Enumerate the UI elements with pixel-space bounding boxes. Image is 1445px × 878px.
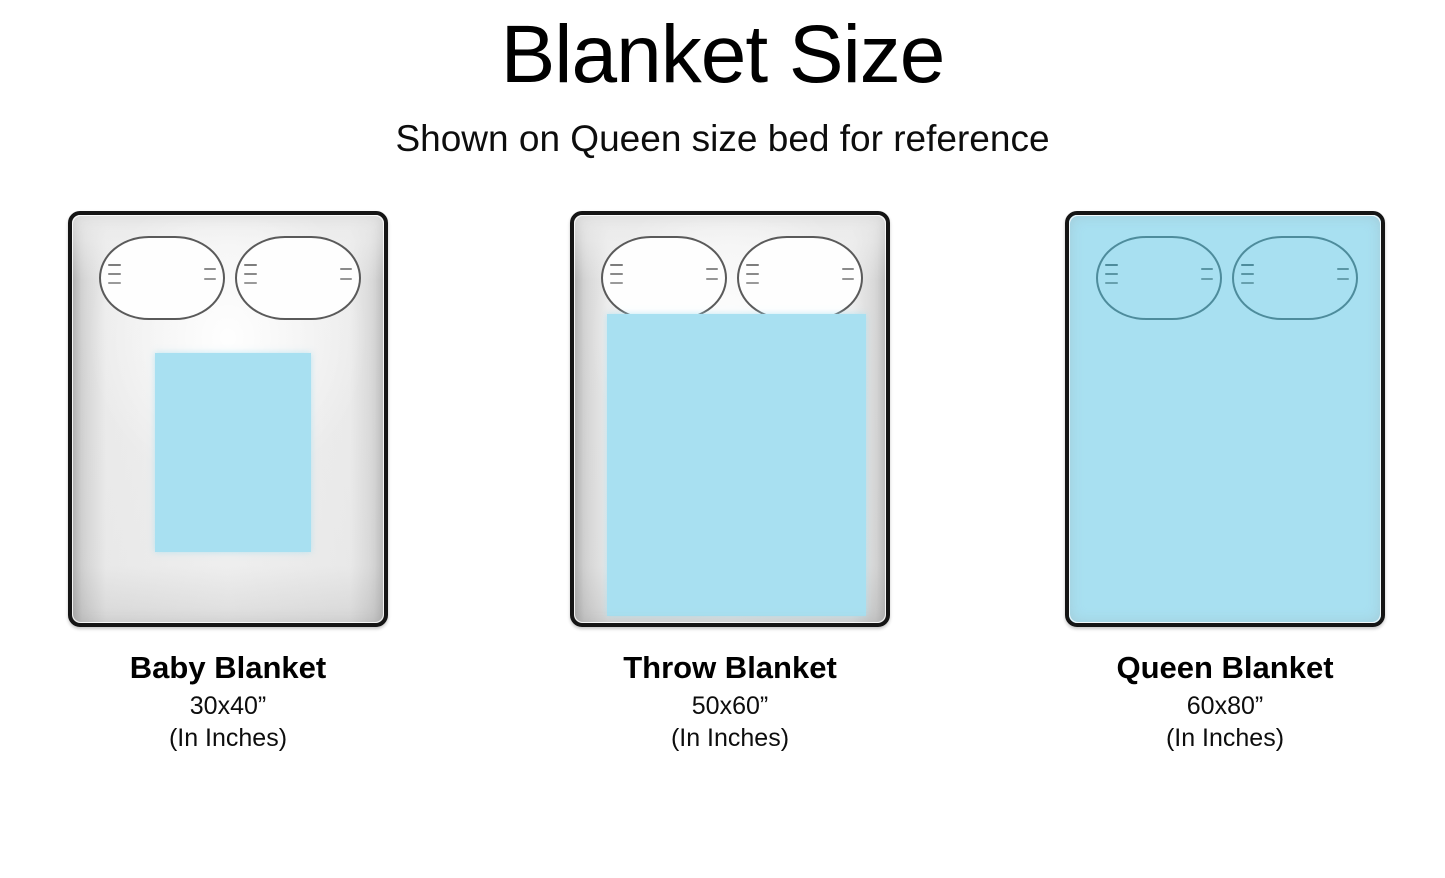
bed-comparison-row: Baby Blanket 30x40” (In Inches) Throw Bl… <box>0 211 1445 811</box>
blanket-overlay-throw <box>607 314 866 616</box>
blanket-name-queen: Queen Blanket <box>1065 650 1385 686</box>
blanket-name-throw: Throw Blanket <box>570 650 890 686</box>
blanket-units-baby: (In Inches) <box>68 722 388 754</box>
bed-card-baby: Baby Blanket 30x40” (In Inches) <box>68 211 388 754</box>
pillow-right-icon <box>737 236 863 320</box>
caption-throw: Throw Blanket 50x60” (In Inches) <box>570 650 890 754</box>
bed-card-throw: Throw Blanket 50x60” (In Inches) <box>570 211 890 754</box>
blanket-units-queen: (In Inches) <box>1065 722 1385 754</box>
pillow-left-icon <box>601 236 727 320</box>
blanket-units-throw: (In Inches) <box>570 722 890 754</box>
blanket-overlay-baby <box>155 353 311 552</box>
page-title: Blanket Size <box>0 14 1445 96</box>
pillow-left-icon <box>99 236 225 320</box>
bed-card-queen: Queen Blanket 60x80” (In Inches) <box>1065 211 1385 754</box>
pillow-right-icon <box>235 236 361 320</box>
blanket-name-baby: Baby Blanket <box>68 650 388 686</box>
bed-illustration-throw <box>570 211 890 627</box>
header: Blanket Size Shown on Queen size bed for… <box>0 0 1445 160</box>
blanket-dimensions-throw: 50x60” <box>570 690 890 722</box>
pillow-right-icon <box>1232 236 1358 320</box>
blanket-dimensions-baby: 30x40” <box>68 690 388 722</box>
caption-baby: Baby Blanket 30x40” (In Inches) <box>68 650 388 754</box>
bed-illustration-queen <box>1065 211 1385 627</box>
page-subtitle: Shown on Queen size bed for reference <box>0 118 1445 160</box>
blanket-dimensions-queen: 60x80” <box>1065 690 1385 722</box>
caption-queen: Queen Blanket 60x80” (In Inches) <box>1065 650 1385 754</box>
pillow-left-icon <box>1096 236 1222 320</box>
bed-illustration-baby <box>68 211 388 627</box>
